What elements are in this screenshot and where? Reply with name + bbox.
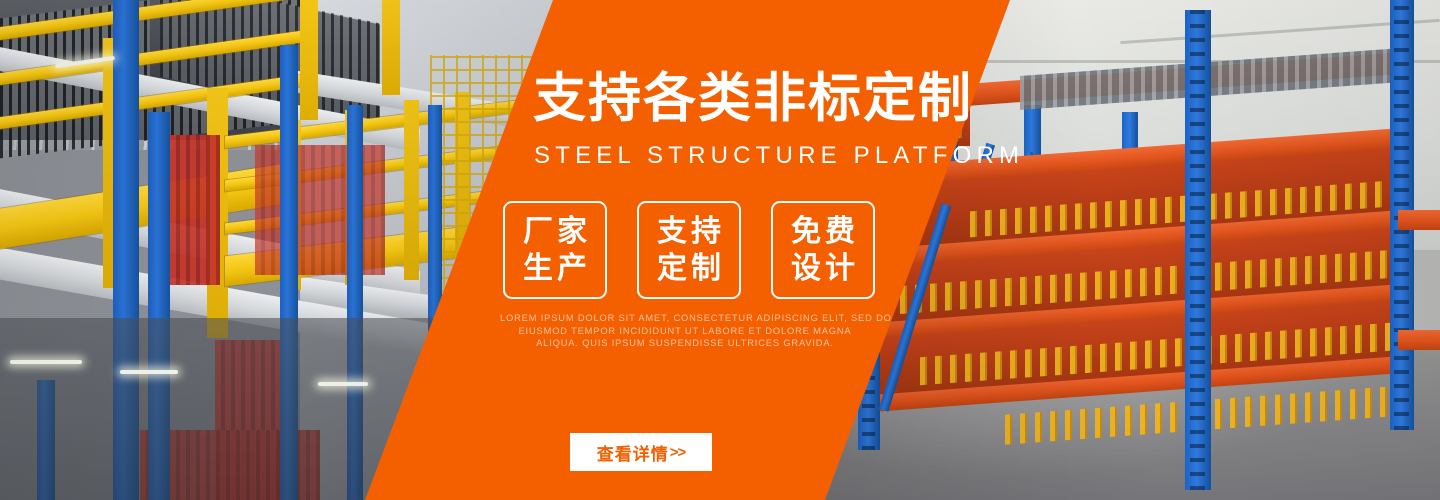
badge-line-1: 厂家 (519, 213, 591, 251)
feature-badge-customization: 支持 定制 (637, 201, 741, 299)
description-line-2: EIUSMOD TEMPOR INCIDIDUNT UT LABORE ET D… (500, 325, 870, 338)
promo-banner: 支持各类非标定制 STEEL STRUCTURE PLATFORM 厂家 生产 … (0, 0, 1440, 500)
badge-line-1: 免费 (787, 213, 859, 251)
double-chevron-right-icon: >> (670, 444, 686, 461)
feature-badge-free-design: 免费 设计 (771, 201, 875, 299)
badge-line-1: 支持 (653, 213, 725, 251)
description-line-1: LOREM IPSUM DOLOR SIT AMET, CONSECTETUR … (500, 312, 870, 325)
feature-badge-group: 厂家 生产 支持 定制 免费 设计 (503, 201, 875, 299)
description-line-3: ALIQUA. QUIS IPSUM SUSPENDISSE ULTRICES … (500, 337, 870, 350)
feature-badge-manufacturer: 厂家 生产 (503, 201, 607, 299)
badge-line-2: 设计 (787, 250, 859, 288)
view-details-label: 查看详情 (597, 440, 669, 465)
page-title: 支持各类非标定制 (533, 72, 973, 125)
badge-line-2: 定制 (653, 250, 725, 288)
subtitle: STEEL STRUCTURE PLATFORM (534, 144, 1024, 168)
view-details-button[interactable]: 查看详情>> (570, 433, 712, 471)
description-text: LOREM IPSUM DOLOR SIT AMET, CONSECTETUR … (500, 312, 870, 350)
badge-line-2: 生产 (519, 250, 591, 288)
